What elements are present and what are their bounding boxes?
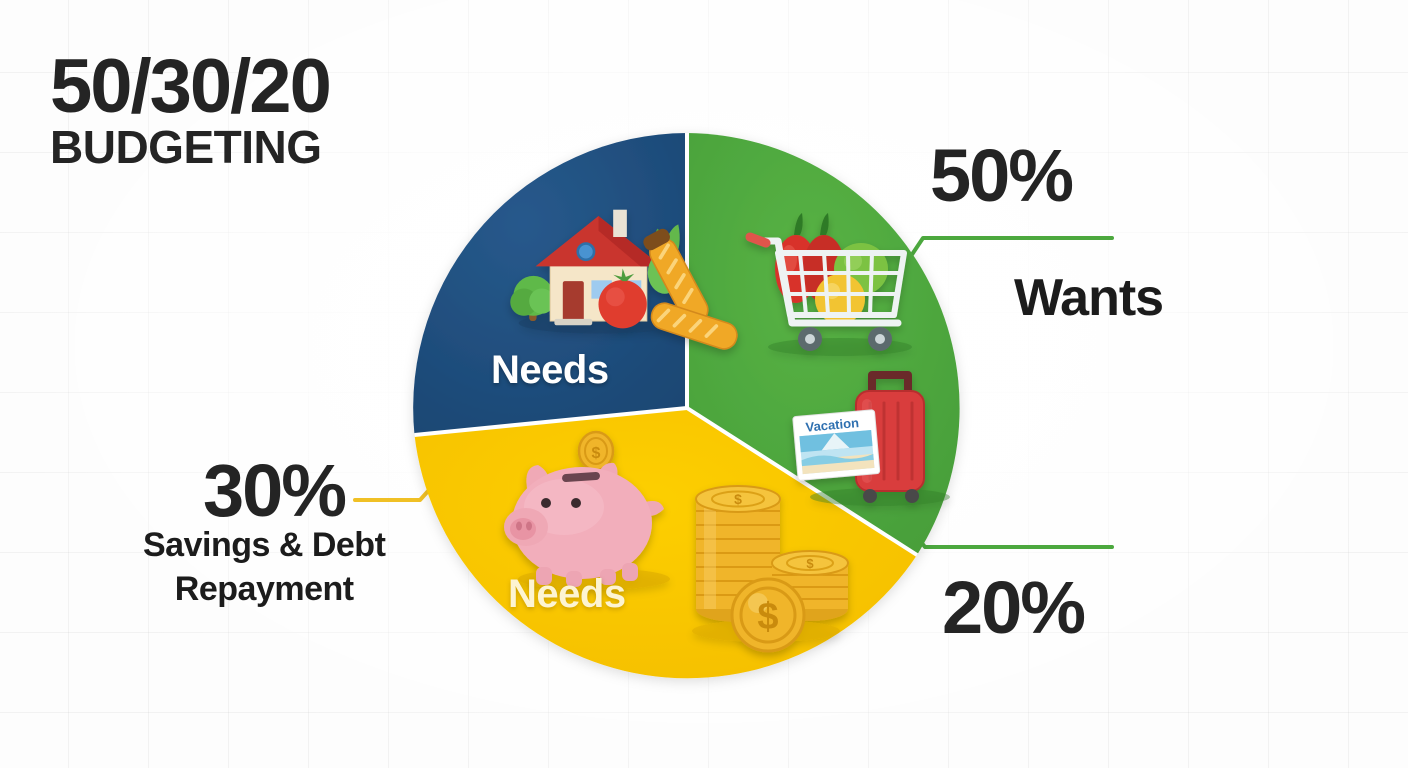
svg-text:$: $ — [734, 491, 742, 507]
callout-label-wants: Wants — [1014, 268, 1163, 328]
coin-front-icon: $ — [732, 579, 804, 651]
svg-text:$: $ — [757, 596, 778, 638]
callout-value-wants: 50% — [930, 133, 1072, 218]
svg-text:$: $ — [806, 556, 814, 571]
page-subtitle: BUDGETING — [50, 126, 330, 168]
pie-chart: Vacation $ — [412, 133, 962, 683]
svg-text:$: $ — [592, 445, 601, 462]
vacation-photo-icon: Vacation — [793, 410, 880, 481]
callout-value-twenty: 20% — [942, 565, 1084, 650]
callout-label-savings-line1: Savings & Debt — [143, 524, 385, 568]
title-block: 50/30/20 BUDGETING — [50, 52, 330, 168]
pie-label-needs-yellow: Needs — [508, 572, 626, 617]
infographic-canvas: 50/30/20 BUDGETING — [0, 0, 1408, 768]
callout-value-savings: 30% — [203, 448, 345, 533]
page-title: 50/30/20 — [50, 52, 330, 122]
pie-label-needs-blue: Needs — [491, 348, 609, 393]
callout-label-savings: Savings & Debt Repayment — [143, 524, 385, 611]
callout-label-savings-line2: Repayment — [143, 568, 385, 612]
